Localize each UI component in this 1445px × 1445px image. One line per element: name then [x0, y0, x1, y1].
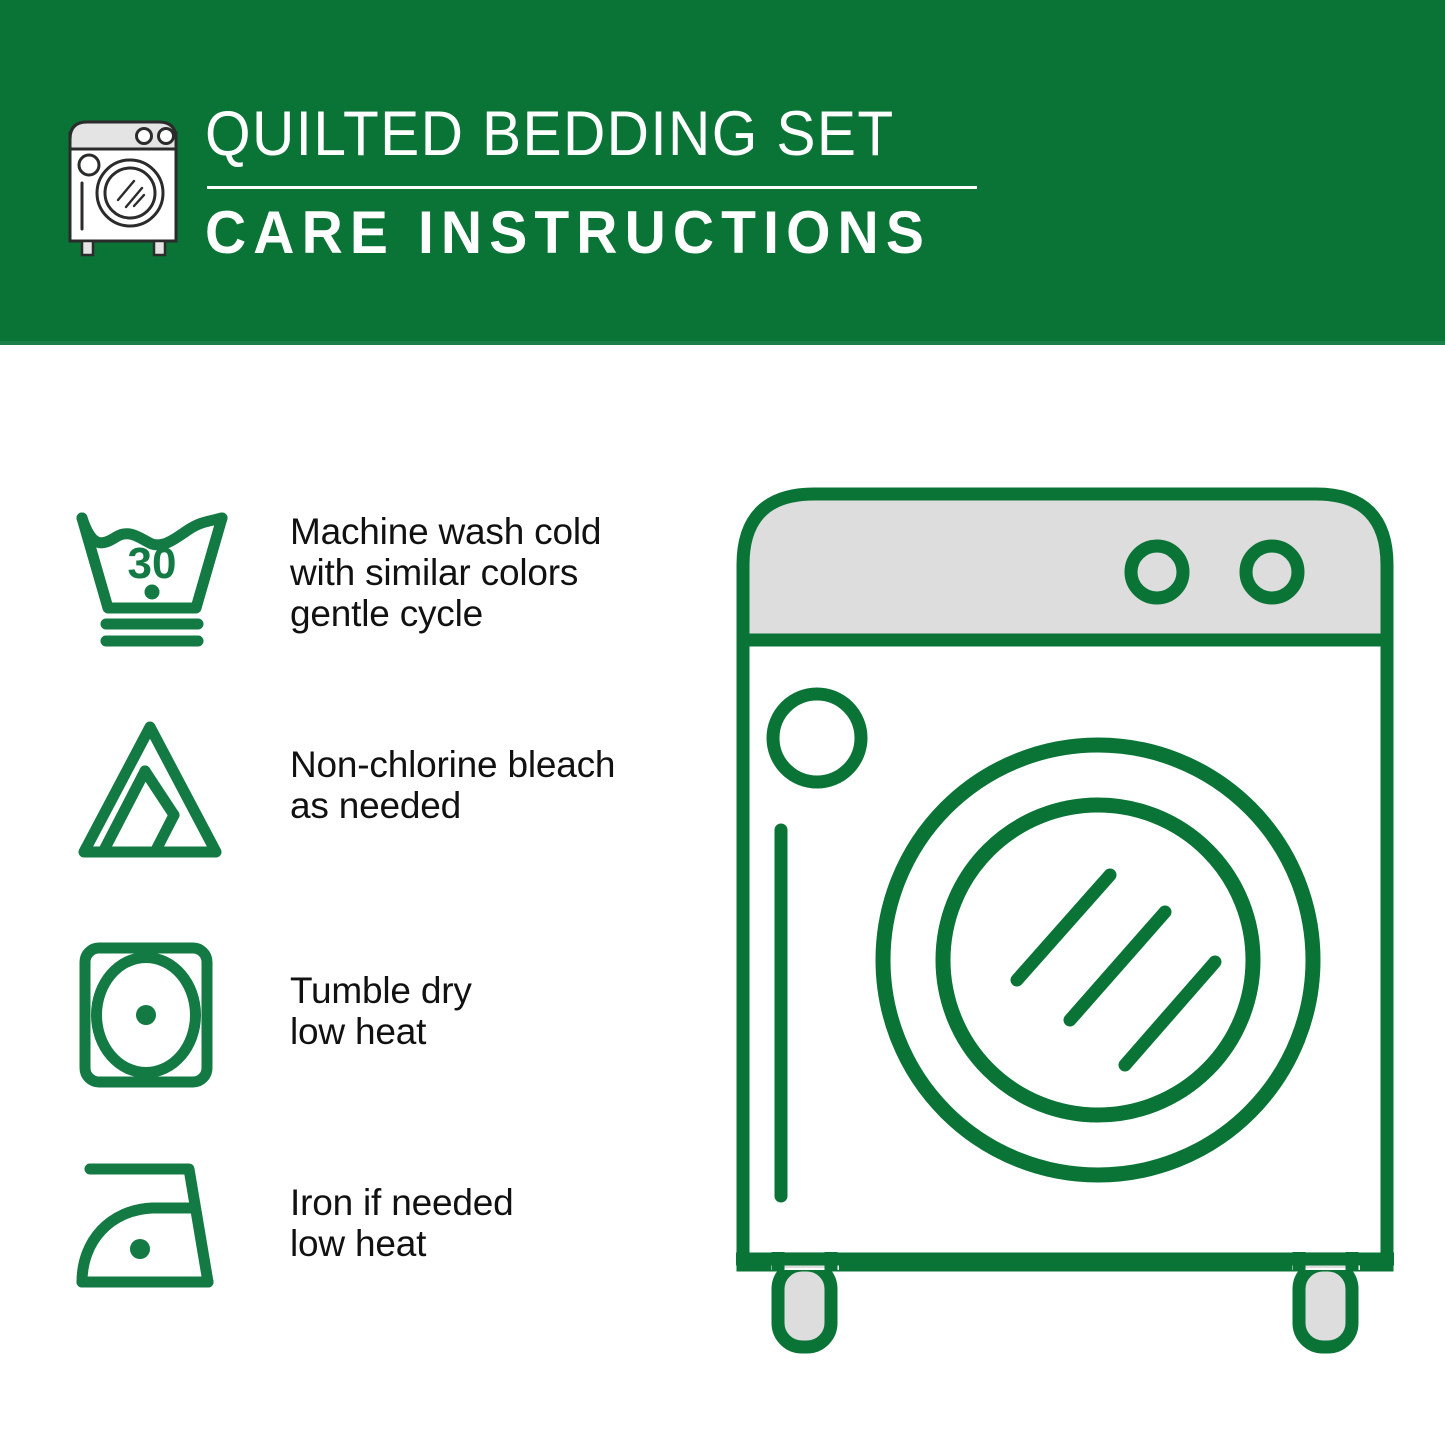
- care-label-machine-wash: Machine wash cold with similar colors ge…: [290, 511, 690, 634]
- dispenser-circle: [773, 694, 861, 782]
- wash-temperature-value: 30: [128, 539, 177, 588]
- drum-inner-ring: [943, 805, 1253, 1115]
- knob-left: [1131, 546, 1183, 598]
- care-label-line: gentle cycle: [290, 593, 690, 634]
- non-chlorine-bleach-triangle-icon: [72, 715, 232, 870]
- header-text-block: QUILTED BEDDING SET CARE INSTRUCTIONS: [205, 98, 1005, 263]
- leg-left: [778, 1265, 831, 1347]
- washing-machine-icon: [62, 103, 192, 255]
- iron-low-heat-icon: [72, 1155, 232, 1310]
- page-subtitle: CARE INSTRUCTIONS: [205, 198, 931, 268]
- care-label-line: Tumble dry: [290, 970, 690, 1011]
- care-label-iron: Iron if needed low heat: [290, 1182, 690, 1264]
- leg-right: [1299, 1265, 1352, 1347]
- care-label-line: Non-chlorine bleach: [290, 744, 690, 785]
- care-label-line: low heat: [290, 1223, 690, 1264]
- knob-right: [1246, 546, 1298, 598]
- care-label-line: with similar colors: [290, 552, 690, 593]
- wash-tub-30-gentle-icon: 30: [72, 500, 232, 655]
- care-instructions-list: 30 Machine wash cold with similar colors…: [0, 345, 700, 1445]
- page-title: QUILTED BEDDING SET: [205, 98, 895, 170]
- care-label-line: Machine wash cold: [290, 511, 690, 552]
- header-banner: QUILTED BEDDING SET CARE INSTRUCTIONS: [0, 0, 1445, 345]
- care-label-tumble-dry: Tumble dry low heat: [290, 970, 690, 1052]
- care-label-line: low heat: [290, 1011, 690, 1052]
- washing-machine-illustration: [725, 470, 1405, 1365]
- tumble-dry-low-icon: [72, 940, 232, 1095]
- care-label-bleach: Non-chlorine bleach as needed: [290, 744, 690, 826]
- care-instructions-infographic: QUILTED BEDDING SET CARE INSTRUCTIONS: [0, 0, 1445, 1445]
- care-label-line: Iron if needed: [290, 1182, 690, 1223]
- care-label-line: as needed: [290, 785, 690, 826]
- title-divider: [207, 186, 977, 189]
